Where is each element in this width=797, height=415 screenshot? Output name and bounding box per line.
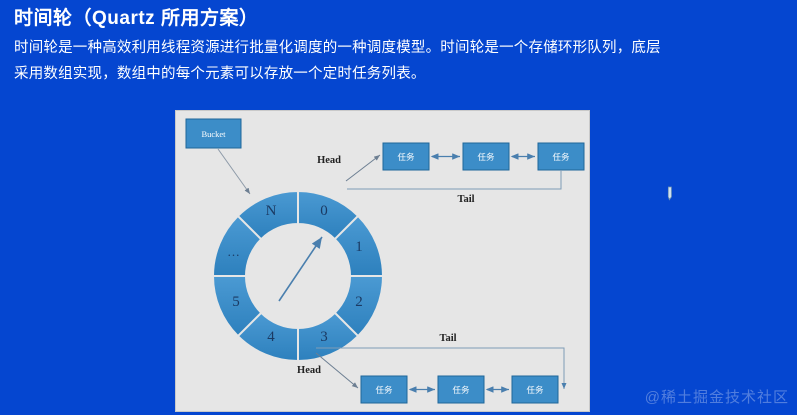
- ring-label-3: 3: [320, 329, 328, 345]
- ring-label-1: 1: [355, 239, 363, 255]
- lower-head-label: Head: [297, 365, 321, 376]
- ring-label-ellipsis: ...: [228, 244, 241, 259]
- pen-cursor-icon: [660, 183, 680, 203]
- timing-wheel-diagram: 0 1 2 3 4 5 ... N Bucket 任务 任务 任务: [176, 111, 589, 411]
- lower-task-label-3: 任务: [526, 385, 544, 395]
- lower-task-label-2: 任务: [452, 385, 470, 395]
- upper-head-arrow: [346, 155, 380, 181]
- upper-task-label-3: 任务: [552, 152, 570, 162]
- ring-label-0: 0: [320, 203, 328, 219]
- ring-label-2: 2: [355, 294, 363, 310]
- upper-head-label: Head: [317, 155, 341, 166]
- upper-task-label-2: 任务: [477, 152, 495, 162]
- upper-task-label-1: 任务: [397, 152, 415, 162]
- watermark-text: @稀土掘金技术社区: [645, 386, 789, 407]
- lower-head-arrow: [316, 353, 358, 388]
- lower-tail-label: Tail: [439, 333, 456, 344]
- bucket-label: Bucket: [201, 129, 226, 139]
- ring-label-5: 5: [232, 294, 240, 310]
- body-line-2: 采用数组实现，数组中的每个元素可以存放一个定时任务列表。: [14, 61, 789, 87]
- slide-body-text: 时间轮是一种高效利用线程资源进行批量化调度的一种调度模型。时间轮是一个存储环形队…: [14, 35, 789, 87]
- bucket-connector-arrow: [218, 149, 250, 194]
- lower-task-label-1: 任务: [375, 385, 393, 395]
- ring-label-n: N: [266, 203, 277, 219]
- body-line-1: 时间轮是一种高效利用线程资源进行批量化调度的一种调度模型。时间轮是一个存储环形队…: [14, 35, 789, 61]
- slide-root: 时间轮（Quartz 所用方案） 时间轮是一种高效利用线程资源进行批量化调度的一…: [0, 0, 797, 415]
- upper-tail-path: [347, 170, 561, 189]
- ring-label-4: 4: [267, 329, 275, 345]
- page-title: 时间轮（Quartz 所用方案）: [14, 3, 258, 30]
- diagram-panel: 0 1 2 3 4 5 ... N Bucket 任务 任务 任务: [175, 110, 590, 412]
- ring-pointer-arrow: [279, 237, 322, 301]
- upper-tail-label: Tail: [457, 194, 474, 205]
